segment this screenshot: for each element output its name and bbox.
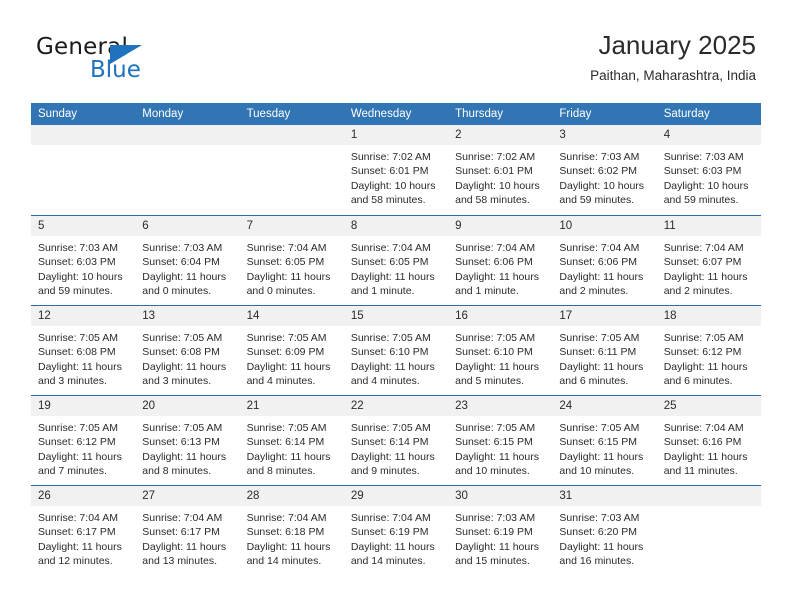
day-number-strip: 19 bbox=[31, 396, 135, 416]
day-detail-line: Sunrise: 7:04 AM bbox=[247, 511, 338, 525]
day-details: Sunrise: 7:05 AMSunset: 6:15 PMDaylight:… bbox=[552, 416, 656, 479]
day-detail-line: Sunrise: 7:03 AM bbox=[38, 241, 129, 255]
weekday-header-sunday: Sunday bbox=[31, 103, 135, 125]
day-cell-19[interactable]: 19Sunrise: 7:05 AMSunset: 6:12 PMDayligh… bbox=[31, 396, 135, 485]
day-number-strip: 11 bbox=[657, 216, 761, 236]
day-cell-20[interactable]: 20Sunrise: 7:05 AMSunset: 6:13 PMDayligh… bbox=[135, 396, 239, 485]
day-cell-empty bbox=[31, 125, 135, 215]
day-detail-line: Sunrise: 7:04 AM bbox=[38, 511, 129, 525]
day-number: 9 bbox=[448, 216, 552, 236]
day-detail-line: Daylight: 11 hours bbox=[351, 450, 442, 464]
day-detail-line: Sunrise: 7:02 AM bbox=[455, 150, 546, 164]
day-detail-line: Sunset: 6:15 PM bbox=[559, 435, 650, 449]
day-detail-line: and 6 minutes. bbox=[559, 374, 650, 388]
day-detail-line: Daylight: 10 hours bbox=[38, 270, 129, 284]
day-detail-line: Daylight: 11 hours bbox=[559, 270, 650, 284]
day-detail-line: Sunset: 6:07 PM bbox=[664, 255, 755, 269]
day-details: Sunrise: 7:04 AMSunset: 6:17 PMDaylight:… bbox=[31, 506, 135, 569]
day-detail-line: Daylight: 10 hours bbox=[559, 179, 650, 193]
day-detail-line: Sunset: 6:17 PM bbox=[142, 525, 233, 539]
weekday-header-saturday: Saturday bbox=[657, 103, 761, 125]
day-detail-line: and 9 minutes. bbox=[351, 464, 442, 478]
day-number: 21 bbox=[240, 396, 344, 416]
day-number-strip: 18 bbox=[657, 306, 761, 326]
day-detail-line: Sunset: 6:06 PM bbox=[455, 255, 546, 269]
day-cell-28[interactable]: 28Sunrise: 7:04 AMSunset: 6:18 PMDayligh… bbox=[240, 486, 344, 575]
day-detail-line: Daylight: 11 hours bbox=[455, 540, 546, 554]
day-number: 19 bbox=[31, 396, 135, 416]
day-detail-line: and 59 minutes. bbox=[38, 284, 129, 298]
day-details bbox=[31, 145, 135, 150]
day-details: Sunrise: 7:03 AMSunset: 6:02 PMDaylight:… bbox=[552, 145, 656, 208]
day-number-strip: 12 bbox=[31, 306, 135, 326]
day-detail-line: Sunset: 6:10 PM bbox=[455, 345, 546, 359]
day-detail-line: Daylight: 11 hours bbox=[455, 360, 546, 374]
day-detail-line: and 3 minutes. bbox=[38, 374, 129, 388]
day-cell-23[interactable]: 23Sunrise: 7:05 AMSunset: 6:15 PMDayligh… bbox=[448, 396, 552, 485]
day-cell-22[interactable]: 22Sunrise: 7:05 AMSunset: 6:14 PMDayligh… bbox=[344, 396, 448, 485]
weekday-header-row: SundayMondayTuesdayWednesdayThursdayFrid… bbox=[31, 103, 761, 125]
day-detail-line: Sunset: 6:06 PM bbox=[559, 255, 650, 269]
day-number: 20 bbox=[135, 396, 239, 416]
day-cell-11[interactable]: 11Sunrise: 7:04 AMSunset: 6:07 PMDayligh… bbox=[657, 216, 761, 305]
day-details: Sunrise: 7:05 AMSunset: 6:09 PMDaylight:… bbox=[240, 326, 344, 389]
day-detail-line: and 8 minutes. bbox=[247, 464, 338, 478]
day-detail-line: Sunrise: 7:04 AM bbox=[455, 241, 546, 255]
day-cell-26[interactable]: 26Sunrise: 7:04 AMSunset: 6:17 PMDayligh… bbox=[31, 486, 135, 575]
day-number-strip: 24 bbox=[552, 396, 656, 416]
day-detail-line: Daylight: 10 hours bbox=[455, 179, 546, 193]
day-details: Sunrise: 7:05 AMSunset: 6:10 PMDaylight:… bbox=[344, 326, 448, 389]
day-detail-line: Daylight: 11 hours bbox=[247, 360, 338, 374]
day-cell-17[interactable]: 17Sunrise: 7:05 AMSunset: 6:11 PMDayligh… bbox=[552, 306, 656, 395]
day-detail-line: Sunrise: 7:04 AM bbox=[247, 241, 338, 255]
day-details bbox=[657, 506, 761, 511]
day-details: Sunrise: 7:03 AMSunset: 6:03 PMDaylight:… bbox=[657, 145, 761, 208]
day-details: Sunrise: 7:05 AMSunset: 6:12 PMDaylight:… bbox=[657, 326, 761, 389]
day-number-strip: 25 bbox=[657, 396, 761, 416]
day-cell-18[interactable]: 18Sunrise: 7:05 AMSunset: 6:12 PMDayligh… bbox=[657, 306, 761, 395]
page-title: January 2025 bbox=[590, 28, 756, 62]
day-details: Sunrise: 7:05 AMSunset: 6:11 PMDaylight:… bbox=[552, 326, 656, 389]
day-details: Sunrise: 7:05 AMSunset: 6:15 PMDaylight:… bbox=[448, 416, 552, 479]
day-number: 8 bbox=[344, 216, 448, 236]
day-detail-line: Sunset: 6:16 PM bbox=[664, 435, 755, 449]
day-detail-line: and 16 minutes. bbox=[559, 554, 650, 568]
day-detail-line: Daylight: 11 hours bbox=[142, 360, 233, 374]
day-number-strip: 27 bbox=[135, 486, 239, 506]
day-detail-line: Sunrise: 7:03 AM bbox=[455, 511, 546, 525]
day-cell-21[interactable]: 21Sunrise: 7:05 AMSunset: 6:14 PMDayligh… bbox=[240, 396, 344, 485]
day-number-strip: 21 bbox=[240, 396, 344, 416]
day-number-strip: 8 bbox=[344, 216, 448, 236]
day-number: 7 bbox=[240, 216, 344, 236]
day-cell-29[interactable]: 29Sunrise: 7:04 AMSunset: 6:19 PMDayligh… bbox=[344, 486, 448, 575]
day-details: Sunrise: 7:04 AMSunset: 6:06 PMDaylight:… bbox=[448, 236, 552, 299]
day-details: Sunrise: 7:05 AMSunset: 6:14 PMDaylight:… bbox=[344, 416, 448, 479]
day-cell-5[interactable]: 5Sunrise: 7:03 AMSunset: 6:03 PMDaylight… bbox=[31, 216, 135, 305]
title-block: January 2025 Paithan, Maharashtra, India bbox=[590, 28, 756, 86]
day-detail-line: Sunrise: 7:05 AM bbox=[351, 331, 442, 345]
day-detail-line: Sunset: 6:08 PM bbox=[142, 345, 233, 359]
day-cell-8[interactable]: 8Sunrise: 7:04 AMSunset: 6:05 PMDaylight… bbox=[344, 216, 448, 305]
day-cell-7[interactable]: 7Sunrise: 7:04 AMSunset: 6:05 PMDaylight… bbox=[240, 216, 344, 305]
day-detail-line: Daylight: 11 hours bbox=[142, 540, 233, 554]
day-number: 5 bbox=[31, 216, 135, 236]
day-number: 14 bbox=[240, 306, 344, 326]
weekday-header-thursday: Thursday bbox=[448, 103, 552, 125]
calendar-page: General Blue January 2025 Paithan, Mahar… bbox=[0, 0, 792, 612]
day-detail-line: Daylight: 11 hours bbox=[559, 450, 650, 464]
weekday-header-wednesday: Wednesday bbox=[344, 103, 448, 125]
day-details: Sunrise: 7:03 AMSunset: 6:04 PMDaylight:… bbox=[135, 236, 239, 299]
day-detail-line: Sunset: 6:19 PM bbox=[351, 525, 442, 539]
day-detail-line: Sunset: 6:05 PM bbox=[247, 255, 338, 269]
calendar-week-row: 1Sunrise: 7:02 AMSunset: 6:01 PMDaylight… bbox=[31, 125, 761, 215]
weekday-header-tuesday: Tuesday bbox=[240, 103, 344, 125]
day-cell-15[interactable]: 15Sunrise: 7:05 AMSunset: 6:10 PMDayligh… bbox=[344, 306, 448, 395]
day-detail-line: Daylight: 11 hours bbox=[455, 270, 546, 284]
day-detail-line: and 1 minute. bbox=[351, 284, 442, 298]
day-detail-line: Sunset: 6:10 PM bbox=[351, 345, 442, 359]
day-detail-line: Daylight: 11 hours bbox=[351, 270, 442, 284]
day-cell-14[interactable]: 14Sunrise: 7:05 AMSunset: 6:09 PMDayligh… bbox=[240, 306, 344, 395]
day-detail-line: and 3 minutes. bbox=[142, 374, 233, 388]
day-detail-line: Sunset: 6:03 PM bbox=[664, 164, 755, 178]
day-details: Sunrise: 7:04 AMSunset: 6:16 PMDaylight:… bbox=[657, 416, 761, 479]
day-detail-line: Sunset: 6:12 PM bbox=[664, 345, 755, 359]
day-detail-line: Daylight: 11 hours bbox=[559, 540, 650, 554]
day-detail-line: Sunset: 6:11 PM bbox=[559, 345, 650, 359]
day-detail-line: and 59 minutes. bbox=[559, 193, 650, 207]
day-cell-31[interactable]: 31Sunrise: 7:03 AMSunset: 6:20 PMDayligh… bbox=[552, 486, 656, 575]
day-details bbox=[135, 145, 239, 150]
day-detail-line: Sunrise: 7:02 AM bbox=[351, 150, 442, 164]
day-detail-line: Daylight: 11 hours bbox=[351, 540, 442, 554]
day-detail-line: and 2 minutes. bbox=[664, 284, 755, 298]
day-number: 24 bbox=[552, 396, 656, 416]
day-number: 12 bbox=[31, 306, 135, 326]
day-details: Sunrise: 7:04 AMSunset: 6:18 PMDaylight:… bbox=[240, 506, 344, 569]
day-number-strip: 31 bbox=[552, 486, 656, 506]
day-number-strip bbox=[135, 125, 239, 145]
day-detail-line: Sunrise: 7:04 AM bbox=[664, 421, 755, 435]
day-cell-3[interactable]: 3Sunrise: 7:03 AMSunset: 6:02 PMDaylight… bbox=[552, 125, 656, 215]
day-number: 29 bbox=[344, 486, 448, 506]
day-number: 2 bbox=[448, 125, 552, 145]
day-detail-line: Daylight: 11 hours bbox=[455, 450, 546, 464]
day-detail-line: Sunrise: 7:05 AM bbox=[351, 421, 442, 435]
day-number: 25 bbox=[657, 396, 761, 416]
day-number-strip: 2 bbox=[448, 125, 552, 145]
day-detail-line: Sunset: 6:05 PM bbox=[351, 255, 442, 269]
day-cell-6[interactable]: 6Sunrise: 7:03 AMSunset: 6:04 PMDaylight… bbox=[135, 216, 239, 305]
day-number: 31 bbox=[552, 486, 656, 506]
day-cell-12[interactable]: 12Sunrise: 7:05 AMSunset: 6:08 PMDayligh… bbox=[31, 306, 135, 395]
day-number: 11 bbox=[657, 216, 761, 236]
day-details: Sunrise: 7:04 AMSunset: 6:19 PMDaylight:… bbox=[344, 506, 448, 569]
day-number-strip: 22 bbox=[344, 396, 448, 416]
day-detail-line: Sunset: 6:08 PM bbox=[38, 345, 129, 359]
day-number-strip: 23 bbox=[448, 396, 552, 416]
day-cell-empty bbox=[240, 125, 344, 215]
day-number: 13 bbox=[135, 306, 239, 326]
day-detail-line: and 0 minutes. bbox=[142, 284, 233, 298]
day-detail-line: Sunset: 6:09 PM bbox=[247, 345, 338, 359]
day-number-strip: 28 bbox=[240, 486, 344, 506]
calendar-table: SundayMondayTuesdayWednesdayThursdayFrid… bbox=[31, 103, 761, 575]
day-details: Sunrise: 7:05 AMSunset: 6:10 PMDaylight:… bbox=[448, 326, 552, 389]
day-number-strip: 17 bbox=[552, 306, 656, 326]
day-detail-line: and 6 minutes. bbox=[664, 374, 755, 388]
day-details: Sunrise: 7:05 AMSunset: 6:08 PMDaylight:… bbox=[31, 326, 135, 389]
day-details: Sunrise: 7:03 AMSunset: 6:20 PMDaylight:… bbox=[552, 506, 656, 569]
calendar-weeks: 1Sunrise: 7:02 AMSunset: 6:01 PMDaylight… bbox=[31, 125, 761, 575]
day-cell-2[interactable]: 2Sunrise: 7:02 AMSunset: 6:01 PMDaylight… bbox=[448, 125, 552, 215]
day-detail-line: Sunset: 6:03 PM bbox=[38, 255, 129, 269]
day-number: 16 bbox=[448, 306, 552, 326]
day-detail-line: and 12 minutes. bbox=[38, 554, 129, 568]
day-number: 27 bbox=[135, 486, 239, 506]
day-number-strip: 20 bbox=[135, 396, 239, 416]
day-detail-line: and 14 minutes. bbox=[247, 554, 338, 568]
day-number: 26 bbox=[31, 486, 135, 506]
day-detail-line: Daylight: 11 hours bbox=[664, 360, 755, 374]
day-details: Sunrise: 7:03 AMSunset: 6:03 PMDaylight:… bbox=[31, 236, 135, 299]
day-detail-line: Sunrise: 7:04 AM bbox=[351, 241, 442, 255]
calendar-week-row: 5Sunrise: 7:03 AMSunset: 6:03 PMDaylight… bbox=[31, 215, 761, 305]
day-detail-line: Sunrise: 7:03 AM bbox=[664, 150, 755, 164]
day-detail-line: Sunrise: 7:04 AM bbox=[351, 511, 442, 525]
day-detail-line: and 14 minutes. bbox=[351, 554, 442, 568]
day-number-strip bbox=[31, 125, 135, 145]
day-detail-line: and 11 minutes. bbox=[664, 464, 755, 478]
calendar-week-row: 26Sunrise: 7:04 AMSunset: 6:17 PMDayligh… bbox=[31, 485, 761, 575]
day-details bbox=[240, 145, 344, 150]
day-detail-line: Sunrise: 7:05 AM bbox=[664, 331, 755, 345]
day-detail-line: Daylight: 11 hours bbox=[664, 270, 755, 284]
calendar-week-row: 12Sunrise: 7:05 AMSunset: 6:08 PMDayligh… bbox=[31, 305, 761, 395]
day-detail-line: Sunset: 6:18 PM bbox=[247, 525, 338, 539]
day-number: 30 bbox=[448, 486, 552, 506]
day-detail-line: Sunrise: 7:05 AM bbox=[142, 421, 233, 435]
day-detail-line: Sunset: 6:12 PM bbox=[38, 435, 129, 449]
day-detail-line: Daylight: 10 hours bbox=[664, 179, 755, 193]
day-number: 3 bbox=[552, 125, 656, 145]
day-details: Sunrise: 7:05 AMSunset: 6:13 PMDaylight:… bbox=[135, 416, 239, 479]
day-cell-16[interactable]: 16Sunrise: 7:05 AMSunset: 6:10 PMDayligh… bbox=[448, 306, 552, 395]
day-number-strip: 26 bbox=[31, 486, 135, 506]
day-detail-line: Sunrise: 7:04 AM bbox=[559, 241, 650, 255]
day-number-strip: 4 bbox=[657, 125, 761, 145]
day-number: 22 bbox=[344, 396, 448, 416]
day-detail-line: and 58 minutes. bbox=[455, 193, 546, 207]
day-detail-line: Daylight: 11 hours bbox=[247, 270, 338, 284]
day-details: Sunrise: 7:04 AMSunset: 6:06 PMDaylight:… bbox=[552, 236, 656, 299]
day-details: Sunrise: 7:04 AMSunset: 6:17 PMDaylight:… bbox=[135, 506, 239, 569]
day-detail-line: Sunrise: 7:04 AM bbox=[664, 241, 755, 255]
day-number: 23 bbox=[448, 396, 552, 416]
day-number: 15 bbox=[344, 306, 448, 326]
day-detail-line: and 5 minutes. bbox=[455, 374, 546, 388]
day-detail-line: Daylight: 11 hours bbox=[247, 540, 338, 554]
day-number-strip bbox=[240, 125, 344, 145]
day-number-strip: 10 bbox=[552, 216, 656, 236]
page-header: General Blue January 2025 Paithan, Mahar… bbox=[36, 28, 756, 98]
day-detail-line: Sunrise: 7:05 AM bbox=[559, 331, 650, 345]
day-detail-line: Sunset: 6:20 PM bbox=[559, 525, 650, 539]
day-number-strip: 5 bbox=[31, 216, 135, 236]
day-number: 4 bbox=[657, 125, 761, 145]
day-number: 6 bbox=[135, 216, 239, 236]
day-detail-line: and 2 minutes. bbox=[559, 284, 650, 298]
day-detail-line: Sunset: 6:19 PM bbox=[455, 525, 546, 539]
day-detail-line: Daylight: 11 hours bbox=[559, 360, 650, 374]
day-cell-24[interactable]: 24Sunrise: 7:05 AMSunset: 6:15 PMDayligh… bbox=[552, 396, 656, 485]
day-detail-line: Daylight: 11 hours bbox=[38, 540, 129, 554]
day-details: Sunrise: 7:04 AMSunset: 6:07 PMDaylight:… bbox=[657, 236, 761, 299]
day-details: Sunrise: 7:04 AMSunset: 6:05 PMDaylight:… bbox=[344, 236, 448, 299]
day-number-strip: 29 bbox=[344, 486, 448, 506]
weekday-header-monday: Monday bbox=[135, 103, 239, 125]
day-number-strip: 30 bbox=[448, 486, 552, 506]
day-detail-line: Sunrise: 7:05 AM bbox=[142, 331, 233, 345]
calendar-week-row: 19Sunrise: 7:05 AMSunset: 6:12 PMDayligh… bbox=[31, 395, 761, 485]
day-detail-line: Sunrise: 7:04 AM bbox=[142, 511, 233, 525]
day-detail-line: Sunrise: 7:05 AM bbox=[455, 421, 546, 435]
day-detail-line: Daylight: 11 hours bbox=[142, 270, 233, 284]
day-details: Sunrise: 7:04 AMSunset: 6:05 PMDaylight:… bbox=[240, 236, 344, 299]
general-blue-logo[interactable]: General Blue bbox=[36, 34, 266, 90]
day-detail-line: Sunset: 6:01 PM bbox=[351, 164, 442, 178]
day-number: 10 bbox=[552, 216, 656, 236]
day-cell-25[interactable]: 25Sunrise: 7:04 AMSunset: 6:16 PMDayligh… bbox=[657, 396, 761, 485]
day-number: 1 bbox=[344, 125, 448, 145]
day-detail-line: Sunset: 6:14 PM bbox=[247, 435, 338, 449]
day-detail-line: and 4 minutes. bbox=[247, 374, 338, 388]
day-cell-1[interactable]: 1Sunrise: 7:02 AMSunset: 6:01 PMDaylight… bbox=[344, 125, 448, 215]
day-number-strip bbox=[657, 486, 761, 506]
day-detail-line: Daylight: 10 hours bbox=[351, 179, 442, 193]
day-number-strip: 15 bbox=[344, 306, 448, 326]
page-subtitle-location: Paithan, Maharashtra, India bbox=[590, 66, 756, 86]
day-detail-line: Sunset: 6:15 PM bbox=[455, 435, 546, 449]
day-detail-line: Daylight: 11 hours bbox=[38, 360, 129, 374]
day-detail-line: Sunset: 6:04 PM bbox=[142, 255, 233, 269]
day-detail-line: and 58 minutes. bbox=[351, 193, 442, 207]
logo-text-blue: Blue bbox=[90, 57, 141, 83]
day-cell-empty bbox=[135, 125, 239, 215]
day-detail-line: Sunrise: 7:05 AM bbox=[455, 331, 546, 345]
day-number-strip: 14 bbox=[240, 306, 344, 326]
day-number-strip: 13 bbox=[135, 306, 239, 326]
day-number: 18 bbox=[657, 306, 761, 326]
day-number: 17 bbox=[552, 306, 656, 326]
day-detail-line: Sunrise: 7:03 AM bbox=[559, 511, 650, 525]
day-detail-line: and 8 minutes. bbox=[142, 464, 233, 478]
day-cell-4[interactable]: 4Sunrise: 7:03 AMSunset: 6:03 PMDaylight… bbox=[657, 125, 761, 215]
day-cell-27[interactable]: 27Sunrise: 7:04 AMSunset: 6:17 PMDayligh… bbox=[135, 486, 239, 575]
day-cell-9[interactable]: 9Sunrise: 7:04 AMSunset: 6:06 PMDaylight… bbox=[448, 216, 552, 305]
day-detail-line: Sunrise: 7:05 AM bbox=[38, 331, 129, 345]
day-details: Sunrise: 7:03 AMSunset: 6:19 PMDaylight:… bbox=[448, 506, 552, 569]
day-cell-10[interactable]: 10Sunrise: 7:04 AMSunset: 6:06 PMDayligh… bbox=[552, 216, 656, 305]
day-detail-line: Sunset: 6:17 PM bbox=[38, 525, 129, 539]
day-number-strip: 7 bbox=[240, 216, 344, 236]
day-details: Sunrise: 7:02 AMSunset: 6:01 PMDaylight:… bbox=[344, 145, 448, 208]
day-cell-13[interactable]: 13Sunrise: 7:05 AMSunset: 6:08 PMDayligh… bbox=[135, 306, 239, 395]
day-cell-empty bbox=[657, 486, 761, 575]
day-detail-line: Sunrise: 7:05 AM bbox=[38, 421, 129, 435]
day-detail-line: Daylight: 11 hours bbox=[247, 450, 338, 464]
day-detail-line: Daylight: 11 hours bbox=[38, 450, 129, 464]
day-detail-line: Sunrise: 7:03 AM bbox=[559, 150, 650, 164]
day-number-strip: 9 bbox=[448, 216, 552, 236]
day-detail-line: and 15 minutes. bbox=[455, 554, 546, 568]
day-detail-line: and 4 minutes. bbox=[351, 374, 442, 388]
day-detail-line: and 13 minutes. bbox=[142, 554, 233, 568]
day-number-strip: 3 bbox=[552, 125, 656, 145]
day-details: Sunrise: 7:05 AMSunset: 6:14 PMDaylight:… bbox=[240, 416, 344, 479]
day-details: Sunrise: 7:05 AMSunset: 6:12 PMDaylight:… bbox=[31, 416, 135, 479]
day-number: 28 bbox=[240, 486, 344, 506]
weekday-header-friday: Friday bbox=[552, 103, 656, 125]
day-detail-line: Daylight: 11 hours bbox=[142, 450, 233, 464]
day-detail-line: and 10 minutes. bbox=[455, 464, 546, 478]
day-detail-line: Daylight: 11 hours bbox=[351, 360, 442, 374]
day-detail-line: and 7 minutes. bbox=[38, 464, 129, 478]
day-detail-line: Sunrise: 7:03 AM bbox=[142, 241, 233, 255]
day-detail-line: Sunrise: 7:05 AM bbox=[559, 421, 650, 435]
day-detail-line: Sunrise: 7:05 AM bbox=[247, 421, 338, 435]
day-cell-30[interactable]: 30Sunrise: 7:03 AMSunset: 6:19 PMDayligh… bbox=[448, 486, 552, 575]
day-number-strip: 6 bbox=[135, 216, 239, 236]
day-details: Sunrise: 7:05 AMSunset: 6:08 PMDaylight:… bbox=[135, 326, 239, 389]
day-detail-line: and 10 minutes. bbox=[559, 464, 650, 478]
day-detail-line: Sunrise: 7:05 AM bbox=[247, 331, 338, 345]
day-detail-line: Sunset: 6:13 PM bbox=[142, 435, 233, 449]
day-number-strip: 16 bbox=[448, 306, 552, 326]
day-detail-line: and 59 minutes. bbox=[664, 193, 755, 207]
day-number-strip: 1 bbox=[344, 125, 448, 145]
day-detail-line: Sunset: 6:01 PM bbox=[455, 164, 546, 178]
day-detail-line: and 0 minutes. bbox=[247, 284, 338, 298]
day-detail-line: Sunset: 6:02 PM bbox=[559, 164, 650, 178]
day-detail-line: Sunset: 6:14 PM bbox=[351, 435, 442, 449]
day-details: Sunrise: 7:02 AMSunset: 6:01 PMDaylight:… bbox=[448, 145, 552, 208]
day-detail-line: Daylight: 11 hours bbox=[664, 450, 755, 464]
day-detail-line: and 1 minute. bbox=[455, 284, 546, 298]
